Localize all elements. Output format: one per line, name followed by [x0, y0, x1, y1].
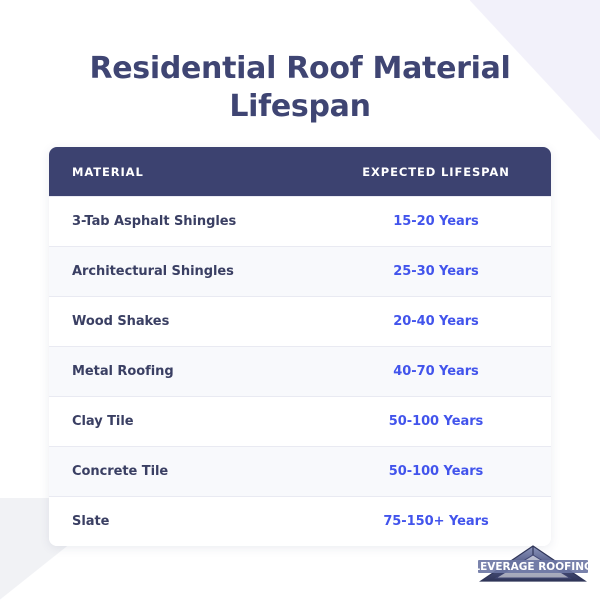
cell-material: Slate [72, 514, 347, 529]
table-row[interactable]: 3-Tab Asphalt Shingles 15-20 Years [49, 196, 551, 246]
column-header-material: MATERIAL [72, 165, 347, 179]
cell-lifespan: 50-100 Years [347, 464, 529, 479]
table-header-row: MATERIAL EXPECTED LIFESPAN [49, 147, 551, 196]
lifespan-table-card: MATERIAL EXPECTED LIFESPAN 3-Tab Asphalt… [49, 147, 551, 546]
cell-lifespan: 25-30 Years [347, 264, 529, 279]
cell-material: Wood Shakes [72, 314, 347, 329]
column-header-expected-lifespan: EXPECTED LIFESPAN [347, 165, 529, 179]
cell-lifespan: 15-20 Years [347, 214, 529, 229]
table-row[interactable]: Architectural Shingles 25-30 Years [49, 246, 551, 296]
cell-lifespan: 40-70 Years [347, 364, 529, 379]
roof-triangle-icon: LEVERAGE ROOFING [477, 543, 589, 591]
page-title: Residential Roof Material Lifespan [60, 50, 540, 126]
cell-material: Concrete Tile [72, 464, 347, 479]
cell-lifespan: 20-40 Years [347, 314, 529, 329]
table-row[interactable]: Wood Shakes 20-40 Years [49, 296, 551, 346]
table-row[interactable]: Concrete Tile 50-100 Years [49, 446, 551, 496]
cell-material: Architectural Shingles [72, 264, 347, 279]
table-row[interactable]: Clay Tile 50-100 Years [49, 396, 551, 446]
logo-wordmark: LEVERAGE ROOFING [477, 561, 589, 573]
table-row[interactable]: Slate 75-150+ Years [49, 496, 551, 546]
cell-lifespan: 50-100 Years [347, 414, 529, 429]
cell-lifespan: 75-150+ Years [347, 514, 529, 529]
cell-material: Clay Tile [72, 414, 347, 429]
brand-logo[interactable]: LEVERAGE ROOFING [477, 543, 589, 591]
cell-material: Metal Roofing [72, 364, 347, 379]
cell-material: 3-Tab Asphalt Shingles [72, 214, 347, 229]
table-row[interactable]: Metal Roofing 40-70 Years [49, 346, 551, 396]
